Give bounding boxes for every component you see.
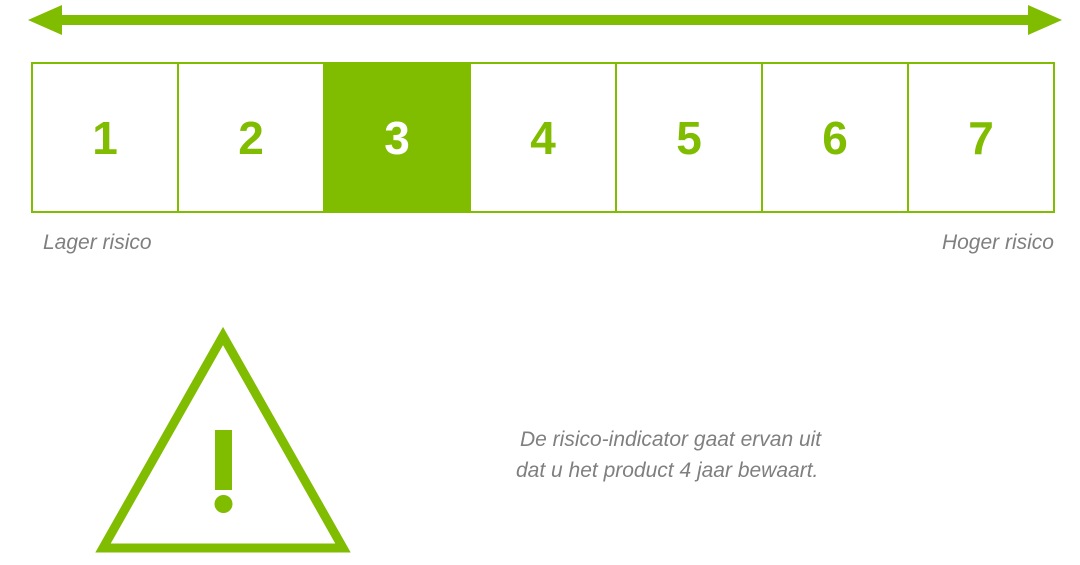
arrow-shaft [58,15,1032,25]
warning-note-line-2: dat u het product 4 jaar bewaart. [516,455,976,486]
risk-cell-4[interactable]: 4 [469,62,615,213]
double-headed-risk-arrow [28,2,1062,38]
warning-note-line-1: De risico-indicator gaat ervan uit [516,424,976,455]
risk-cell-number: 6 [822,115,848,161]
risk-cell-number: 7 [968,115,994,161]
arrow-head-left-icon [28,5,62,35]
exclamation-dot [215,495,233,513]
risk-cell-number: 4 [530,115,556,161]
risk-cell-3-selected[interactable]: 3 [323,62,469,213]
risk-cell-number: 2 [238,115,264,161]
risk-cell-number: 3 [384,115,410,161]
risk-cell-7[interactable]: 7 [907,62,1055,213]
scale-caption-high: Hoger risico [942,229,1054,257]
warning-note: De risico-indicator gaat ervan uit dat u… [516,424,976,486]
risk-scale: 1 2 3 4 5 6 7 [31,62,1055,213]
risk-cell-1[interactable]: 1 [31,62,177,213]
exclamation-bar [215,430,232,490]
risk-cell-2[interactable]: 2 [177,62,323,213]
risk-cell-6[interactable]: 6 [761,62,907,213]
risk-cell-number: 5 [676,115,702,161]
scale-caption-low: Lager risico [43,229,152,257]
risk-cell-5[interactable]: 5 [615,62,761,213]
risk-cell-number: 1 [92,115,118,161]
arrow-head-right-icon [1028,5,1062,35]
warning-triangle-exclamation-icon [95,326,351,558]
